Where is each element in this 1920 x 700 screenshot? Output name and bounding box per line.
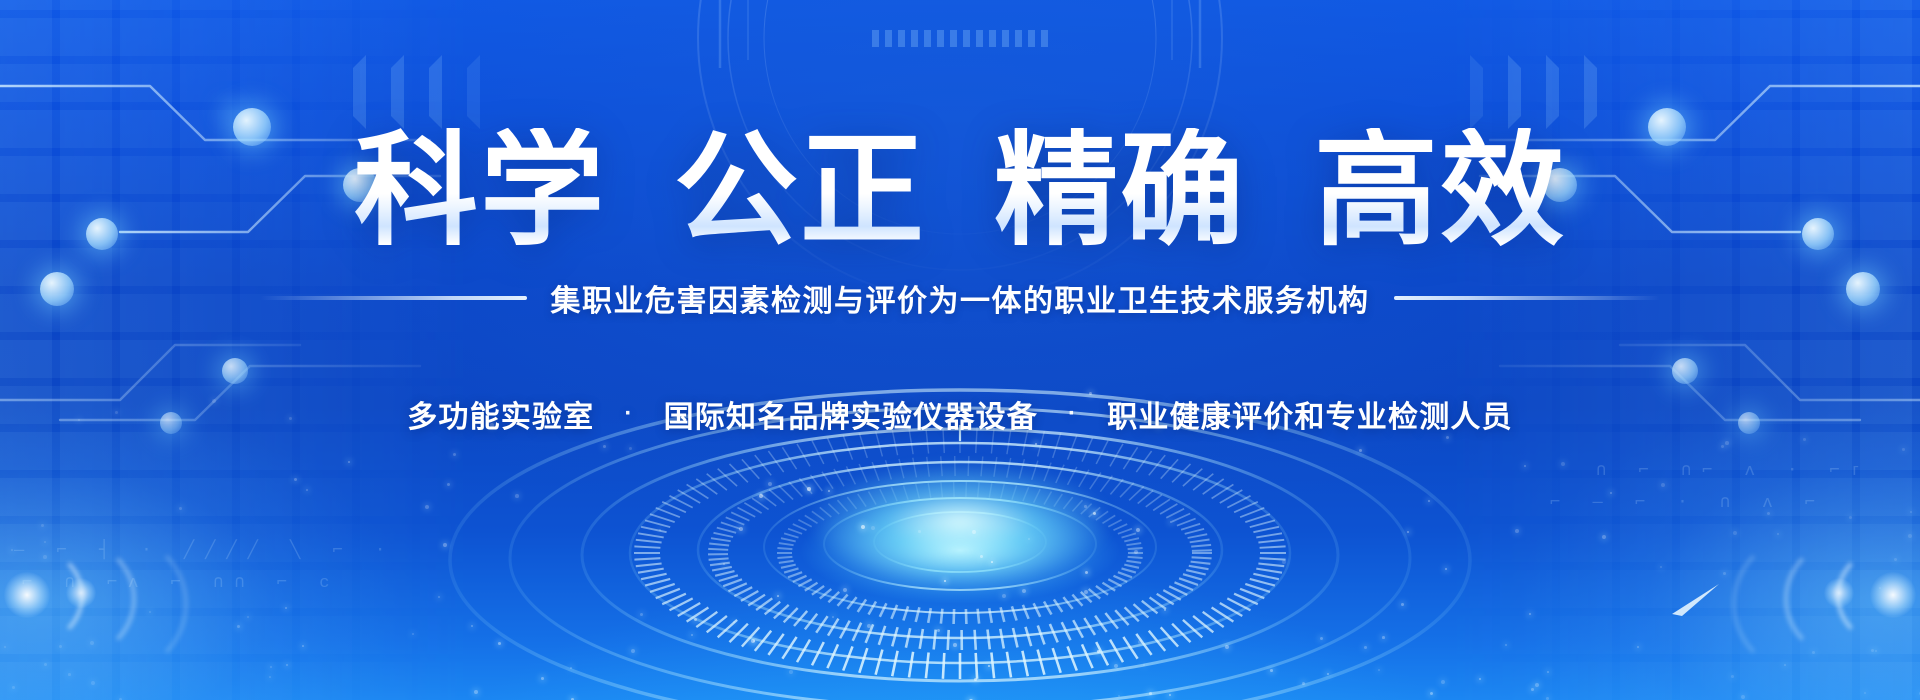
subtitle-row: 集职业危害因素检测与评价为一体的职业卫生技术服务机构: [260, 276, 1660, 320]
subtitle-text: 集职业危害因素检测与评价为一体的职业卫生技术服务机构: [551, 276, 1370, 320]
headline-word-4: 高效: [1308, 128, 1572, 254]
tagline-row: 多功能实验室 · 国际知名品牌实验仪器设备 · 职业健康评价和专业检测人员: [407, 392, 1513, 436]
tagline-separator-2: ·: [1068, 400, 1077, 428]
headline-word-2: 公正: [668, 128, 932, 254]
tagline-item-1: 多功能实验室: [407, 392, 594, 436]
headline-word-3: 精确: [988, 128, 1252, 254]
tagline-item-3: 职业健康评价和专业检测人员: [1107, 392, 1513, 436]
tech-banner: — ⌐ ┤ · ╱╱╱╱ ╲ ⌐ · ⌐ ∩ ⌐ᴧ ⌐ ∩∩ ⌐ ᴄ ∩ ⌐ ∩…: [0, 0, 1920, 700]
divider-line-right: [1394, 296, 1661, 300]
tagline-separator-1: ·: [624, 400, 633, 428]
headline-word-1: 科学: [348, 128, 612, 254]
banner-content: 科学 公正 精确 高效 集职业危害因素检测与评价为一体的职业卫生技术服务机构 多…: [0, 0, 1920, 700]
divider-line-left: [260, 296, 527, 300]
tagline-item-2: 国际知名品牌实验仪器设备: [664, 392, 1038, 436]
page-title: 科学 公正 精确 高效: [348, 128, 1572, 254]
